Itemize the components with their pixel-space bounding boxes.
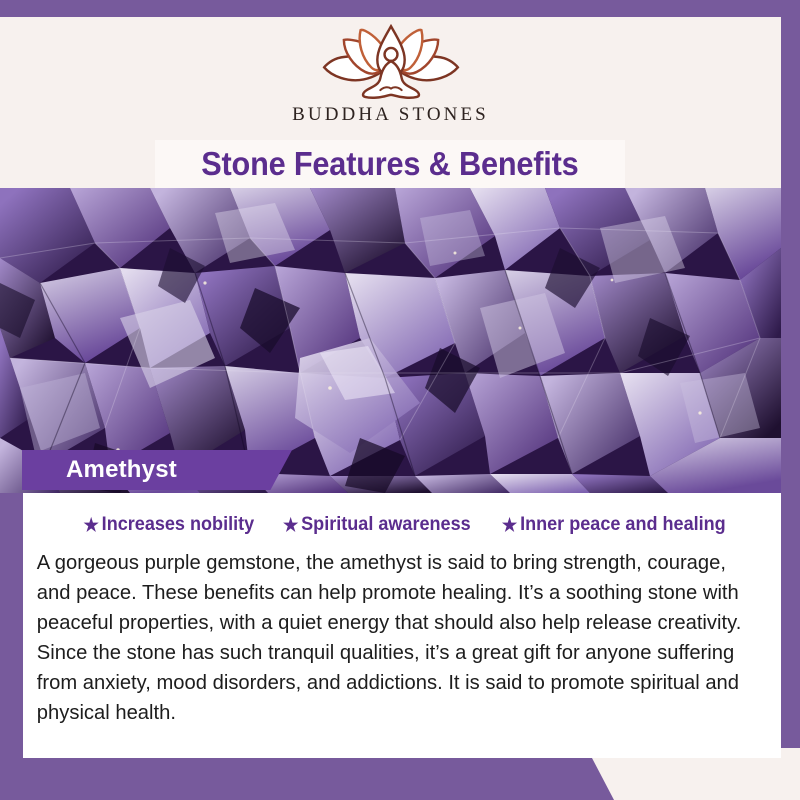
- page-title: Stone Features & Benefits: [201, 145, 578, 183]
- content-area: ★ Increases nobility ★ Spiritual awarene…: [23, 500, 781, 758]
- stone-name: Amethyst: [66, 456, 177, 484]
- amethyst-crystal-cluster-illustration: [0, 188, 781, 493]
- stone-description: A gorgeous purple gemstone, the amethyst…: [23, 548, 770, 728]
- product-info-card: BUDDHA STONES Stone Features & Benefits: [0, 0, 800, 800]
- page-title-box: Stone Features & Benefits: [155, 140, 625, 188]
- feature-label: Spiritual awareness: [301, 514, 471, 536]
- stone-name-tag: Amethyst: [22, 450, 292, 490]
- frame-border-left: [0, 493, 23, 800]
- amethyst-photo: [0, 188, 781, 493]
- star-icon: ★: [283, 516, 298, 534]
- feature-item-1: ★ Spiritual awareness: [283, 514, 471, 536]
- lotus-meditation-icon: [315, 23, 467, 101]
- frame-border-top: [0, 0, 800, 17]
- star-icon: ★: [502, 516, 517, 534]
- brand-header: BUDDHA STONES: [0, 17, 781, 140]
- feature-list: ★ Increases nobility ★ Spiritual awarene…: [23, 500, 781, 536]
- feature-label: Increases nobility: [101, 514, 253, 536]
- star-icon: ★: [83, 516, 98, 534]
- brand-name: BUDDHA STONES: [292, 104, 489, 126]
- feature-item-2: ★ Inner peace and healing: [502, 514, 726, 536]
- frame-border-right: [781, 0, 800, 748]
- feature-item-0: ★ Increases nobility: [83, 514, 254, 536]
- feature-label: Inner peace and healing: [520, 514, 726, 536]
